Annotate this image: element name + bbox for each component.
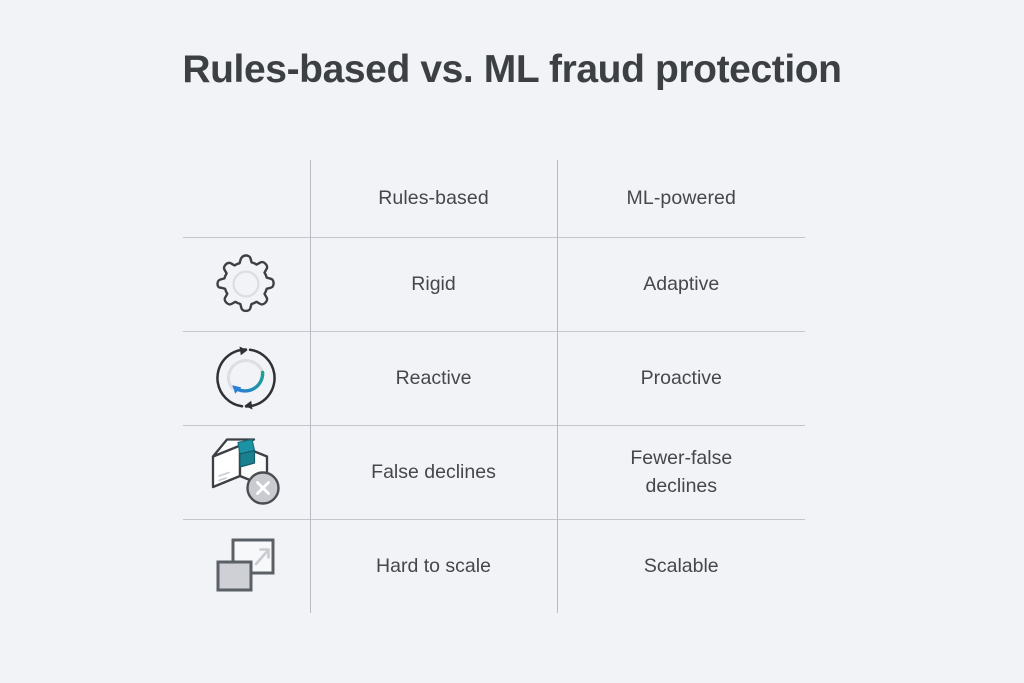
package-declined-icon (207, 436, 285, 508)
table-row: False declines Fewer-false declines (183, 425, 805, 519)
comparison-table: Rules-based ML-powered Rigid Adaptive (183, 160, 805, 613)
cell-ml-powered: Fewer-false declines (557, 425, 805, 519)
cell-rules-based: Rigid (310, 237, 557, 331)
cell-ml-powered: Proactive (557, 331, 805, 425)
cell-rules-based: Reactive (310, 331, 557, 425)
header-rules-based: Rules-based (310, 160, 557, 237)
cell-ml-powered: Adaptive (557, 237, 805, 331)
table-row: Rigid Adaptive (183, 237, 805, 331)
infographic-root: Rules-based vs. ML fraud protection Rule… (0, 0, 1024, 683)
refresh-cycle-icon (212, 344, 280, 412)
scale-expand-icon (212, 534, 280, 598)
cell-rules-based: Hard to scale (310, 519, 557, 613)
row-2-icon-cell (183, 331, 310, 425)
gear-icon (213, 251, 279, 317)
page-title: Rules-based vs. ML fraud protection (0, 48, 1024, 92)
row-4-icon-cell (183, 519, 310, 613)
cell-ml-powered: Scalable (557, 519, 805, 613)
header-icon-spacer (183, 160, 310, 237)
cell-ml-powered-line2: declines (645, 475, 717, 497)
table-row: Reactive Proactive (183, 331, 805, 425)
header-ml-powered: ML-powered (557, 160, 805, 237)
row-1-icon-cell (183, 237, 310, 331)
table-row: Hard to scale Scalable (183, 519, 805, 613)
table-header-row: Rules-based ML-powered (183, 160, 805, 237)
row-3-icon-cell (183, 425, 310, 519)
cell-rules-based: False declines (310, 425, 557, 519)
cell-ml-powered-line1: Fewer-false (630, 447, 732, 469)
